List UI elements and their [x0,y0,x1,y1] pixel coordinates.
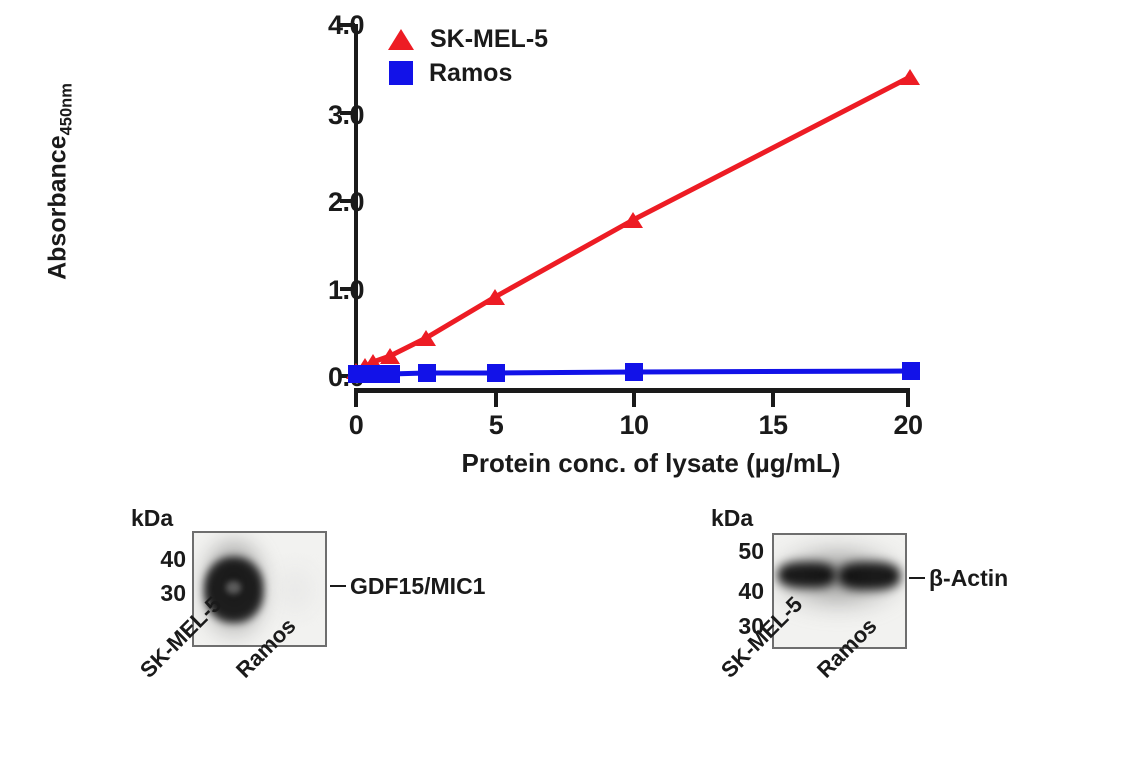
band-gdf15-ramos [272,563,318,617]
leader-line-beta-actin [909,577,925,579]
data-point-skmel5-6 [623,212,643,228]
data-point-skmel5-3 [380,348,400,364]
blot-image-beta-actin [772,533,907,649]
data-point-skmel5-4 [416,330,436,346]
legend-item-ramos: Ramos [386,56,548,90]
kda-marker-left-30: 30 [140,580,186,607]
kda-header-right: kDa [711,505,753,532]
leader-line-gdf15 [330,585,346,587]
protein-label-gdf15: GDF15/MIC1 [350,573,485,600]
series-lines [0,0,1141,500]
data-point-skmel5-7 [900,69,920,85]
data-point-ramos-4 [418,364,436,382]
triangle-marker-icon [388,29,414,50]
legend-label-skmel5: SK-MEL-5 [430,25,548,54]
absorbance-line-chart: Absorbance450nm 4.0 3.0 2.0 1.0 0.0 0 5 … [0,0,1141,500]
figure-panel: Absorbance450nm 4.0 3.0 2.0 1.0 0.0 0 5 … [0,0,1141,768]
data-point-ramos-3 [382,365,400,383]
data-point-ramos-7 [902,362,920,380]
kda-header-left: kDa [131,505,173,532]
data-point-ramos-6 [625,363,643,381]
kda-marker-right-50: 50 [718,538,764,565]
data-point-ramos-5 [487,364,505,382]
data-point-skmel5-5 [485,289,505,305]
legend-item-skmel5: SK-MEL-5 [386,22,548,56]
chart-legend: SK-MEL-5 Ramos [386,22,548,90]
blot-image-gdf15 [192,531,327,647]
square-marker-icon [389,61,413,85]
kda-marker-left-40: 40 [140,546,186,573]
kda-marker-right-40: 40 [718,578,764,605]
legend-label-ramos: Ramos [429,59,512,88]
protein-label-beta-actin: β-Actin [929,565,1008,592]
